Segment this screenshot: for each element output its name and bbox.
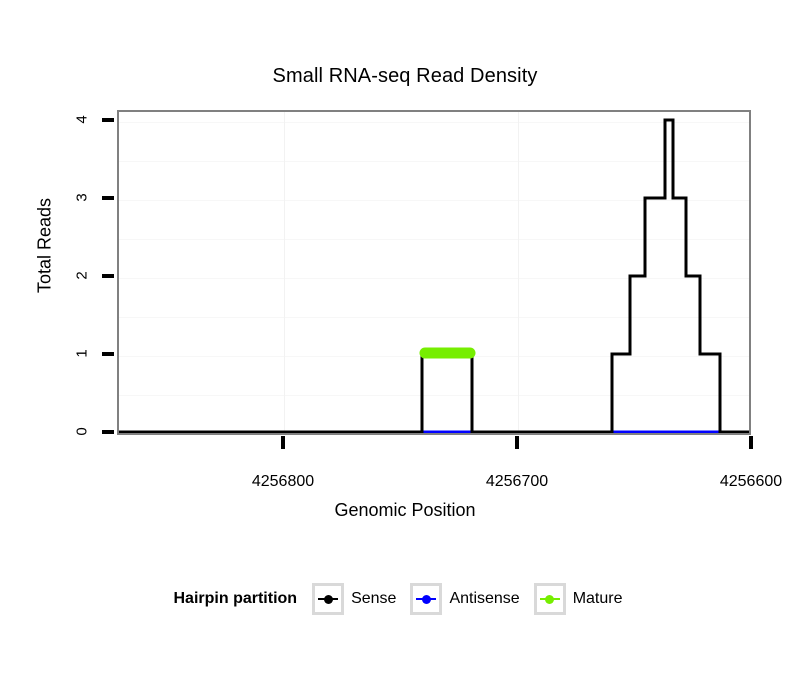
y-tick-label-4: 4 <box>74 100 91 140</box>
x-tick-label-4256800: 4256800 <box>223 473 343 491</box>
y-tick-label-1: 1 <box>74 334 91 374</box>
legend: Hairpin partition Sense Antisense Mature <box>0 583 810 615</box>
legend-key-sense <box>312 583 344 615</box>
y-tick-label-3: 3 <box>74 178 91 218</box>
legend-label-antisense: Antisense <box>449 590 519 608</box>
legend-item-sense[interactable]: Sense <box>312 583 396 615</box>
y-tick-mark-2 <box>102 274 114 278</box>
chart-figure: Small RNA-seq Read Density Total Reads G… <box>0 0 810 690</box>
x-tick-label-4256600: 4256600 <box>691 473 810 491</box>
legend-label-sense: Sense <box>351 590 396 608</box>
chart-title: Small RNA-seq Read Density <box>0 65 810 88</box>
y-tick-label-2: 2 <box>74 256 91 296</box>
legend-item-antisense[interactable]: Antisense <box>410 583 519 615</box>
legend-key-mature <box>534 583 566 615</box>
plot-panel <box>117 110 751 435</box>
x-tick-label-4256700: 4256700 <box>457 473 577 491</box>
series-sense <box>119 120 749 432</box>
plot-data-layer <box>119 112 749 433</box>
y-tick-mark-4 <box>102 118 114 122</box>
legend-title: Hairpin partition <box>174 590 298 608</box>
y-tick-mark-3 <box>102 196 114 200</box>
y-axis-title: Total Reads <box>35 146 56 346</box>
x-axis-title: Genomic Position <box>0 500 810 521</box>
y-tick-label-0: 0 <box>74 412 91 452</box>
legend-key-antisense <box>410 583 442 615</box>
x-tick-mark-4256600 <box>749 436 753 449</box>
legend-label-mature: Mature <box>573 590 623 608</box>
y-tick-mark-0 <box>102 430 114 434</box>
x-tick-mark-4256700 <box>515 436 519 449</box>
x-tick-mark-4256800 <box>281 436 285 449</box>
legend-item-mature[interactable]: Mature <box>534 583 623 615</box>
y-tick-mark-1 <box>102 352 114 356</box>
